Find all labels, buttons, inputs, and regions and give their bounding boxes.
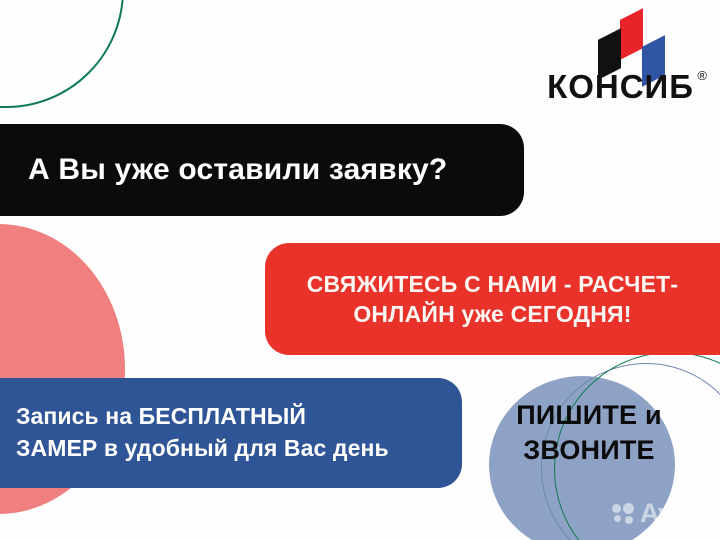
booking-banner-line-2: ЗАМЕР в удобный для Вас день: [16, 433, 462, 465]
logo-wordmark: КОНСИБ: [547, 70, 694, 103]
contact-banner-line-2: ОНЛАЙН уже СЕГОДНЯ!: [353, 299, 631, 329]
avito-dot-2: [623, 503, 634, 514]
avito-dots-icon: [612, 503, 638, 525]
contact-banner-line-1: СВЯЖИТЕСЬ С НАМИ - РАСЧЕТ-: [307, 269, 679, 299]
avito-dot-1: [612, 504, 621, 513]
registered-trademark-icon: ®: [697, 68, 707, 83]
avito-dot-4: [625, 516, 633, 524]
call-to-action: ПИШИТЕ и ЗВОНИТЕ: [489, 398, 689, 467]
avito-watermark: Avito: [612, 500, 704, 527]
avito-dot-3: [614, 515, 621, 522]
decorative-green-circle-top-left: [0, 0, 124, 108]
company-logo: КОНСИБ ®: [548, 14, 708, 106]
call-to-action-line-1: ПИШИТЕ и: [489, 398, 689, 433]
question-banner: А Вы уже оставили заявку?: [0, 124, 524, 216]
booking-banner-line-1: Запись на БЕСПЛАТНЫЙ: [16, 401, 462, 433]
booking-banner: Запись на БЕСПЛАТНЫЙ ЗАМЕР в удобный для…: [0, 378, 462, 488]
contact-banner: СВЯЖИТЕСЬ С НАМИ - РАСЧЕТ- ОНЛАЙН уже СЕ…: [265, 243, 720, 355]
avito-watermark-text: Avito: [640, 500, 704, 527]
promo-poster: КОНСИБ ® А Вы уже оставили заявку? СВЯЖИ…: [0, 0, 720, 540]
logo-parallelogram-red-icon: [620, 8, 643, 60]
logo-mark-icon: [548, 14, 708, 72]
call-to-action-line-2: ЗВОНИТЕ: [489, 433, 689, 468]
question-banner-text: А Вы уже оставили заявку?: [0, 153, 447, 187]
